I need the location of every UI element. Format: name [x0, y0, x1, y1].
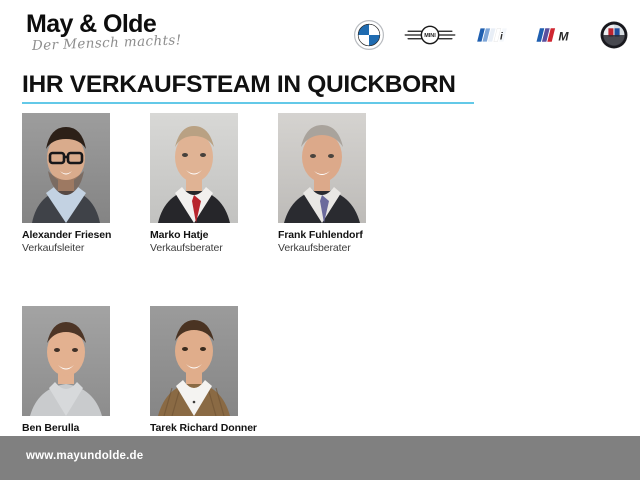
portrait-photo [150, 306, 238, 416]
team-member-card[interactable]: Tarek Richard Donner Junior Verkäufer [150, 306, 238, 447]
bmw-m-logo: M [536, 19, 580, 51]
page-title: IHR VERKAUFSTEAM IN QUICKBORN [22, 72, 492, 98]
team-member-card[interactable]: Marko Hatje Verkaufsberater [150, 113, 238, 254]
team-member-card[interactable]: Alexander Friesen Verkaufsleiter [22, 113, 110, 254]
team-grid: Alexander Friesen Verkaufsleiter [22, 113, 622, 447]
svg-text:i: i [500, 31, 503, 42]
page-title-block: IHR VERKAUFSTEAM IN QUICKBORN [22, 72, 492, 104]
portrait-photo [278, 113, 366, 223]
page-header: May & Olde Der Mensch machts! [0, 0, 640, 68]
brand-logo[interactable]: May & Olde Der Mensch machts! [26, 12, 246, 54]
svg-text:MINI: MINI [424, 33, 436, 39]
member-name: Marko Hatje [150, 229, 238, 241]
alpina-logo [600, 19, 628, 51]
portrait-photo [22, 113, 110, 223]
title-underline [22, 102, 474, 104]
member-name: Alexander Friesen [22, 229, 110, 241]
bmw-logo [354, 19, 384, 51]
marque-logo-strip: MINI i [354, 18, 628, 52]
team-row: Ben Berulla Junior Verkäufer [22, 306, 622, 447]
member-role: Verkaufsberater [278, 242, 366, 254]
mini-logo: MINI [404, 19, 456, 51]
member-name: Ben Berulla [22, 422, 110, 434]
bmw-i-logo: i [476, 19, 516, 51]
svg-text:M: M [558, 29, 569, 43]
portrait-photo [150, 113, 238, 223]
team-row: Alexander Friesen Verkaufsleiter [22, 113, 622, 254]
portrait-photo [22, 306, 110, 416]
member-role: Verkaufsleiter [22, 242, 110, 254]
page-footer: www.mayundolde.de [0, 436, 640, 480]
team-member-card[interactable]: Frank Fuhlendorf Verkaufsberater [278, 113, 366, 254]
website-url[interactable]: www.mayundolde.de [26, 450, 143, 462]
team-member-card[interactable]: Ben Berulla Junior Verkäufer [22, 306, 110, 447]
member-name: Tarek Richard Donner [150, 422, 238, 434]
member-role: Verkaufsberater [150, 242, 238, 254]
member-name: Frank Fuhlendorf [278, 229, 366, 241]
